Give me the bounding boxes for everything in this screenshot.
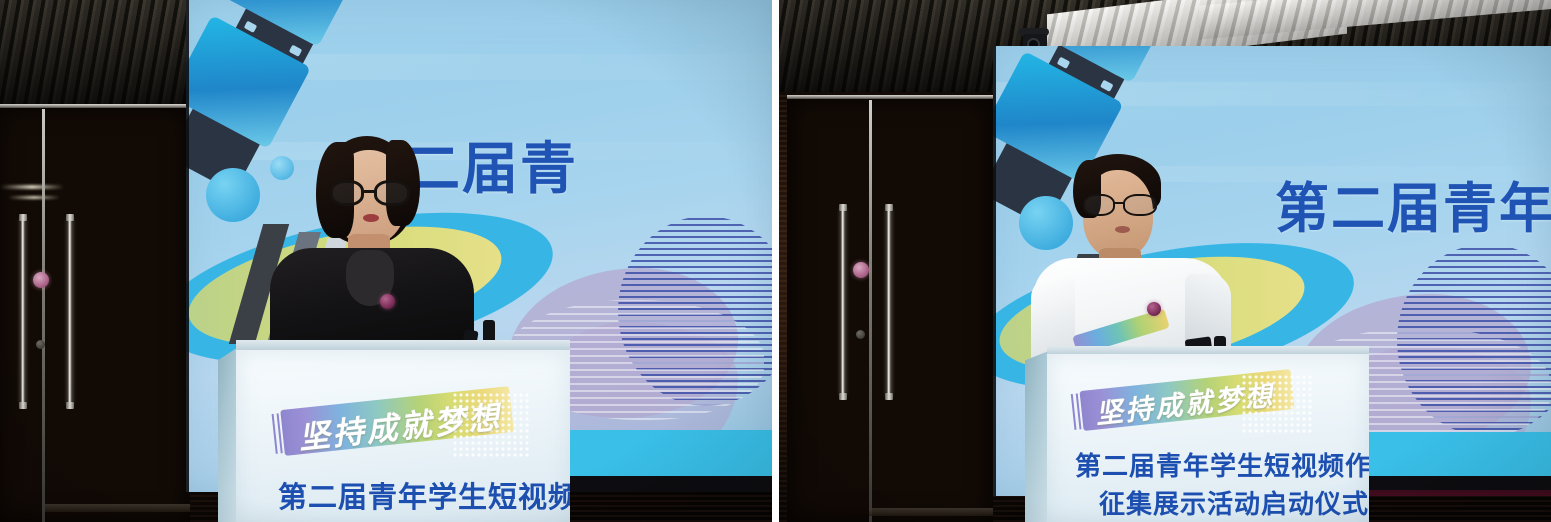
screen-heading-right: 第二届青年 [1275, 164, 1551, 243]
door-gap-left [42, 109, 45, 522]
speaker-woman [268, 136, 480, 366]
mouth [1115, 226, 1130, 233]
lapel-badge-icon [380, 294, 395, 309]
podium-line1-left: 第二届青年学生短视频作品 [278, 474, 570, 516]
wall-light-streak2-left [8, 196, 60, 199]
door-knob-left[interactable] [36, 340, 45, 349]
glasses-icon [330, 180, 414, 208]
glasses-icon [1083, 194, 1161, 218]
podium-line2-right: 征集展示活动启动仪式 [1099, 484, 1369, 521]
tshirt-badge-icon [1147, 302, 1161, 316]
door-knob-right[interactable] [856, 330, 865, 339]
podium-left: 坚持成就梦想 第二届青年学生短视频作品 [218, 340, 570, 522]
podium-right: 坚持成就梦想 第二届青年学生短视频作品 征集展示活动启动仪式 [1025, 346, 1369, 522]
photo-panel-right: 第二届青年 [779, 0, 1551, 522]
door-top-rail-right [787, 95, 993, 99]
podium-line1-right: 第二届青年学生短视频作品 [1075, 446, 1369, 483]
door-sign-icon-right [853, 262, 869, 278]
door-handle-b-left[interactable] [68, 218, 72, 405]
door-frame-left [0, 105, 190, 522]
door-gap-right [869, 100, 872, 522]
door-handle-b-right[interactable] [887, 208, 891, 396]
photo-panel-left: 第二届青 [0, 0, 772, 522]
door-handle-a-right[interactable] [841, 208, 845, 396]
podium-front-panel-left: 坚持成就梦想 第二届青年学生短视频作品 [236, 350, 570, 522]
door-handle-a-left[interactable] [21, 218, 25, 405]
mouth [363, 214, 379, 222]
floor-reflection-left [45, 504, 190, 512]
floor-reflection-right [869, 508, 993, 516]
photo-composite: 第二届青 [0, 0, 1551, 522]
screen-circle-large-left [206, 168, 260, 222]
podium-front-panel-right: 坚持成就梦想 第二届青年学生短视频作品 征集展示活动启动仪式 [1047, 354, 1369, 522]
panel-divider [772, 0, 779, 522]
door-sign-icon-left [33, 272, 49, 288]
wall-light-streak-left [0, 185, 64, 189]
door-top-rail-left [0, 104, 190, 108]
